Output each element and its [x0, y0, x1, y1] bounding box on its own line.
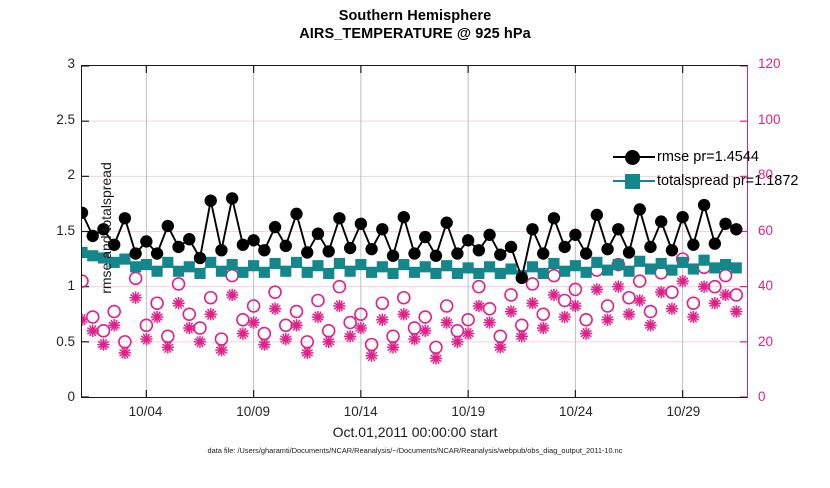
y-axis-left-tick: 1.5 [29, 223, 75, 238]
x-axis-title: Oct.01,2011 00:00:00 start [0, 424, 830, 440]
y-axis-right-tick: 0 [758, 389, 804, 404]
y-axis-left-tick: 0.5 [29, 334, 75, 349]
y-axis-left-tick: 3 [29, 56, 75, 71]
y-axis-right-tick: 80 [758, 167, 804, 182]
y-axis-right-tick: 40 [758, 278, 804, 293]
chart-title-line2: AIRS_TEMPERATURE @ 925 hPa [0, 26, 830, 42]
legend-marker-totalspread [611, 170, 657, 192]
y-axis-right-tick: 20 [758, 334, 804, 349]
y-axis-right-tick: 100 [758, 112, 804, 127]
y-axis-left-tick: 1 [29, 278, 75, 293]
plot-canvas: Southern Hemisphere AIRS_TEMPERATURE @ 9… [0, 0, 830, 470]
y-axis-left-tick: 0 [29, 389, 75, 404]
legend-label-rmse: rmse pr=1.4544 [657, 149, 759, 165]
y-axis-right-tick: 120 [758, 56, 804, 71]
x-axis-tick: 10/24 [536, 404, 616, 419]
x-axis-tick: 10/14 [321, 404, 401, 419]
x-axis-tick: 10/19 [428, 404, 508, 419]
x-axis-tick: 10/04 [106, 404, 186, 419]
y-axis-left-tick: 2 [29, 167, 75, 182]
legend-item-rmse: rmse pr=1.4544 [611, 145, 827, 169]
data-file-caption: data file: /Users/gharamti/Documents/NCA… [0, 446, 830, 455]
y-axis-left-tick: 2.5 [29, 112, 75, 127]
plot-area: rmse pr=1.4544 totalspread pr=1.1872 rms… [81, 65, 748, 398]
y-axis-right-tick: 60 [758, 223, 804, 238]
legend-marker-rmse [611, 146, 657, 168]
data-series-layer [82, 66, 747, 397]
x-axis-tick: 10/29 [643, 404, 723, 419]
chart-title-line1: Southern Hemisphere [0, 8, 830, 24]
x-axis-tick: 10/09 [213, 404, 293, 419]
